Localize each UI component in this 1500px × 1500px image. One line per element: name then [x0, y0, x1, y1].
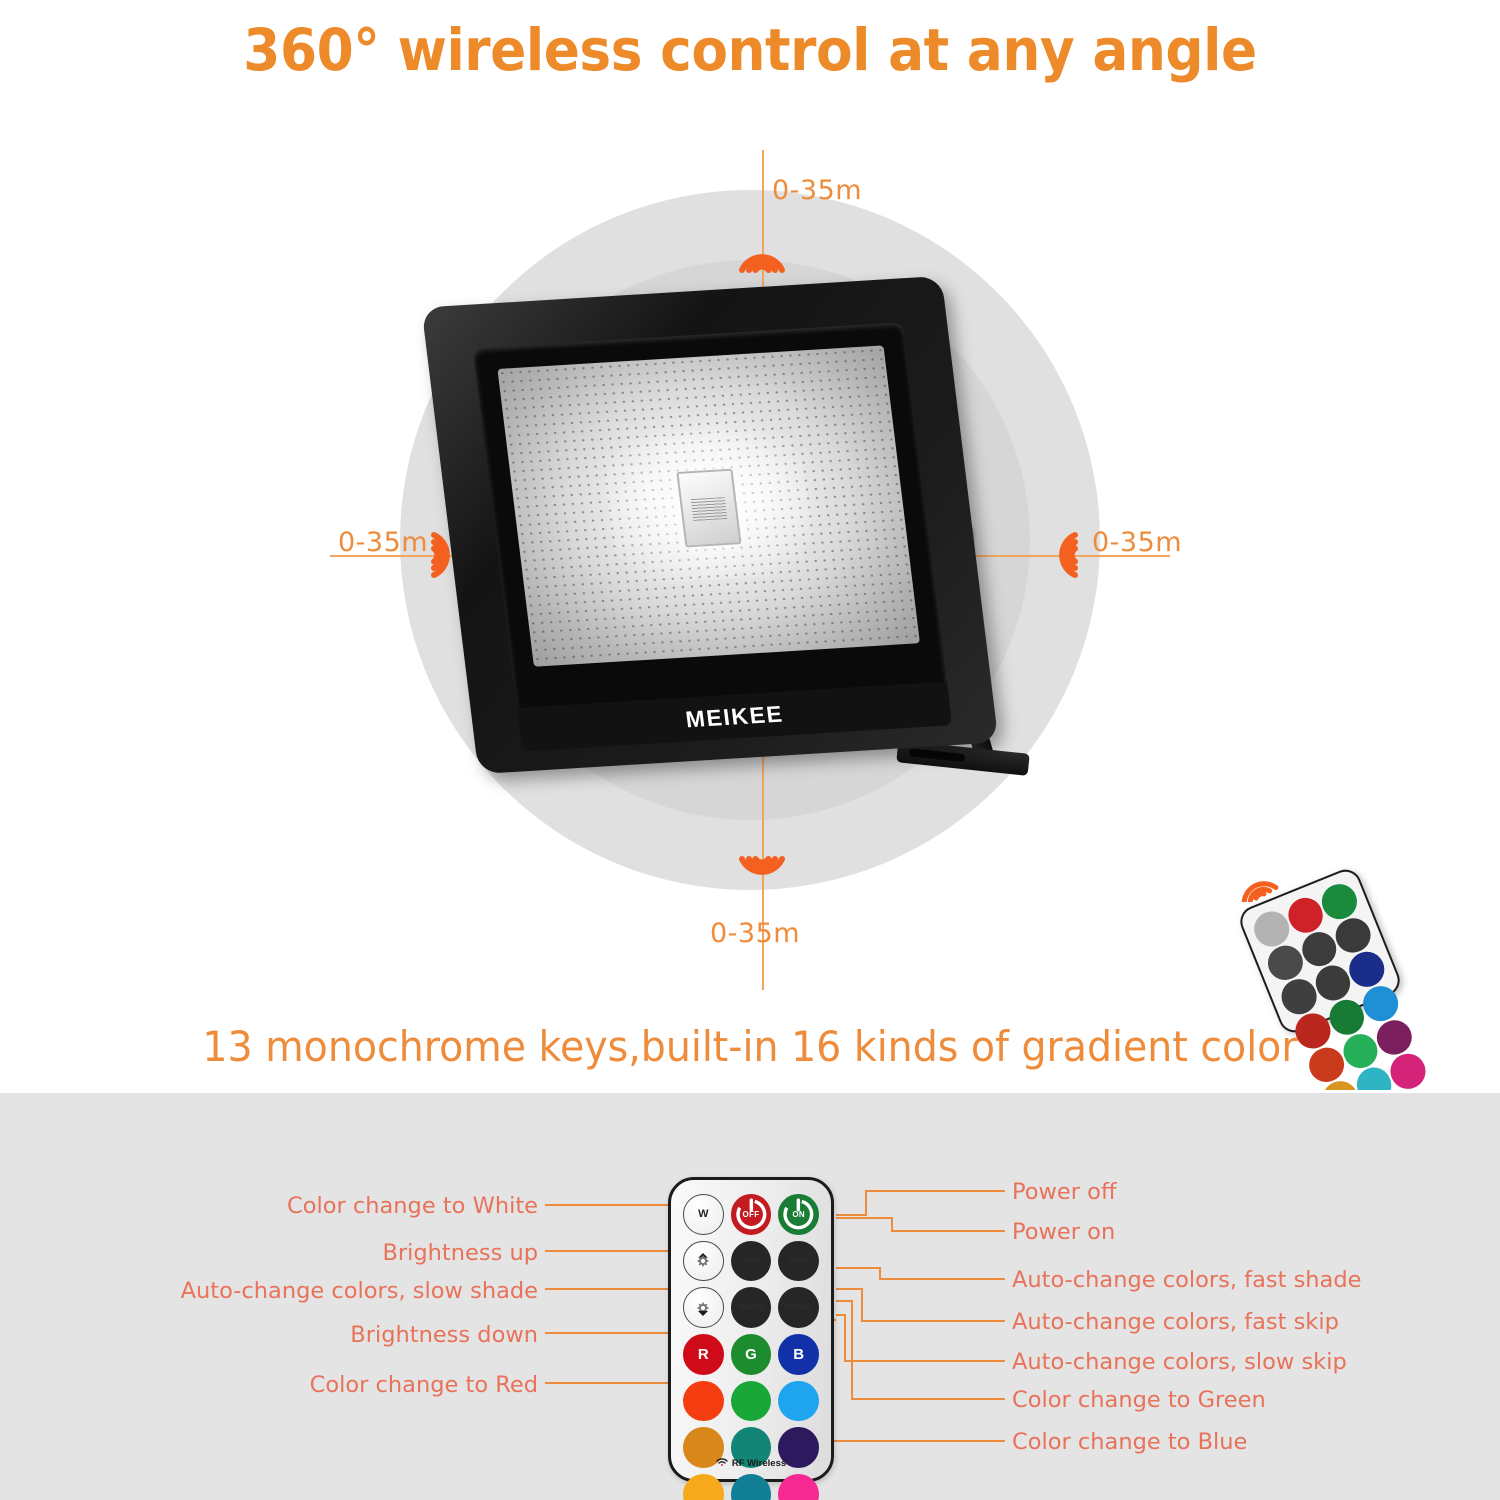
- mini-remote-illustration: [1238, 862, 1438, 1032]
- bracket-slot: [909, 748, 966, 762]
- distance-label-right: 0-35m: [1092, 527, 1182, 558]
- brand-label: MEIKEE: [684, 700, 785, 733]
- wifi-signal-down-icon: [734, 855, 790, 896]
- flash-key[interactable]: FLASH: [778, 1241, 819, 1282]
- wifi-signal-left-icon: [1043, 527, 1079, 588]
- remote-key-legend-section: WOFFONFADEFLASHSMOOTHSTROBERGB RF Wirele…: [0, 1093, 1500, 1500]
- rf-wireless-text: RF Wireless: [732, 1458, 786, 1469]
- floodlight-housing: MEIKEE: [421, 276, 998, 774]
- floodlight-bezel: [473, 322, 950, 729]
- page-title: 360° wireless control at any angle: [60, 16, 1440, 84]
- distance-label-left: 0-35m: [338, 527, 428, 558]
- red-key[interactable]: R: [683, 1334, 724, 1375]
- section-subtitle: 13 monochrome keys,built-in 16 kinds of …: [45, 1022, 1455, 1071]
- blue-key[interactable]: B: [778, 1334, 819, 1375]
- distance-label-bottom: 0-35m: [710, 918, 800, 949]
- wifi-icon: [716, 1457, 728, 1469]
- remote-control[interactable]: WOFFONFADEFLASHSMOOTHSTROBERGB RF Wirele…: [668, 1177, 834, 1482]
- wifi-signal-up-icon: [734, 238, 790, 279]
- brightness-down-key[interactable]: [683, 1287, 724, 1328]
- bright-green-key[interactable]: [731, 1381, 772, 1422]
- fade-key[interactable]: FADE: [731, 1241, 772, 1282]
- remote-key-grid: WOFFONFADEFLASHSMOOTHSTROBERGB: [683, 1194, 819, 1500]
- power-on-key[interactable]: ON: [778, 1194, 819, 1235]
- distance-label-top: 0-35m: [772, 175, 862, 206]
- strobe-key[interactable]: STROBE: [778, 1287, 819, 1328]
- amber-key[interactable]: [683, 1474, 724, 1500]
- led-floodlight: MEIKEE: [430, 270, 1090, 790]
- power-off-key[interactable]: OFF: [731, 1194, 772, 1235]
- brightness-up-key[interactable]: [683, 1241, 724, 1282]
- white-key[interactable]: W: [683, 1194, 724, 1235]
- floodlight-lens: [497, 345, 920, 666]
- teal-blue-key[interactable]: [731, 1474, 772, 1500]
- green-key[interactable]: G: [731, 1334, 772, 1375]
- wireless-range-section: 360° wireless control at any angle MEIKE…: [0, 0, 1500, 1090]
- rf-wireless-label: RF Wireless: [671, 1457, 831, 1469]
- pink-key[interactable]: [778, 1474, 819, 1500]
- smooth-key[interactable]: SMOOTH: [731, 1287, 772, 1328]
- light-blue-key[interactable]: [778, 1381, 819, 1422]
- led-chip: [676, 469, 741, 548]
- orange-red-key[interactable]: [683, 1381, 724, 1422]
- wifi-signal-right-icon: [430, 527, 466, 588]
